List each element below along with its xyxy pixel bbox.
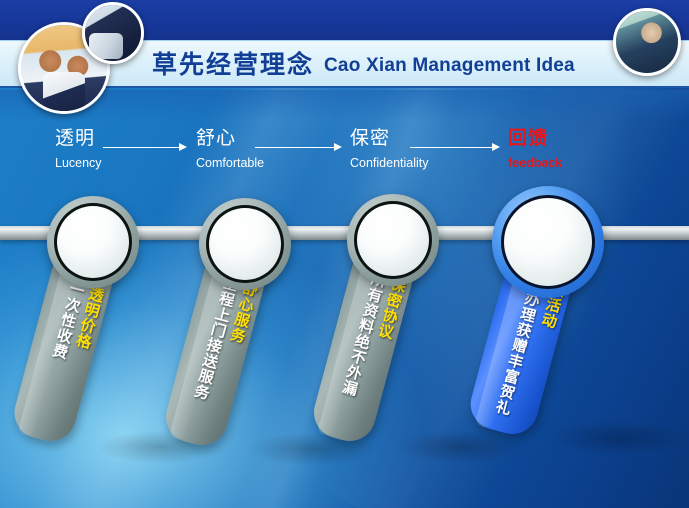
flow-step-label-cn: 回馈 (508, 128, 562, 150)
title-english: Cao Xian Management Idea (324, 56, 575, 75)
flow-step-label-en: Confidentiality (350, 154, 429, 172)
arrow-right-icon (410, 143, 500, 151)
meeting-photo (613, 8, 681, 76)
pill-2-knob[interactable] (199, 198, 291, 290)
page-title: 草先经营理念 Cao Xian Management Idea (152, 42, 575, 88)
flow-step-label-en: feedback (508, 154, 562, 172)
flow-step-label-cn: 舒心 (196, 128, 264, 150)
flow-step-1: 透明 Lucency (55, 128, 102, 172)
flow-step-4: 回馈 feedback (508, 128, 562, 172)
pill-1-knob[interactable] (47, 196, 139, 288)
arrow-right-icon (103, 143, 187, 151)
process-flow: 透明 Lucency 舒心 Comfortable 保密 Confidentia… (0, 128, 689, 184)
pill-shadow (396, 430, 526, 464)
slide-canvas: 草先经营理念 Cao Xian Management Idea 透明 Lucen… (0, 0, 689, 508)
flow-step-label-cn: 透明 (55, 128, 102, 150)
pill-4-knob[interactable] (492, 186, 604, 298)
flow-step-label-en: Comfortable (196, 154, 264, 172)
pill-3-knob[interactable] (347, 194, 439, 286)
arrow-right-icon (255, 143, 342, 151)
pill-shadow (548, 420, 688, 456)
flow-step-2: 舒心 Comfortable (196, 128, 264, 172)
flow-step-label-en: Lucency (55, 154, 102, 172)
title-chinese: 草先经营理念 (152, 53, 314, 78)
handshake-photo (82, 2, 144, 64)
